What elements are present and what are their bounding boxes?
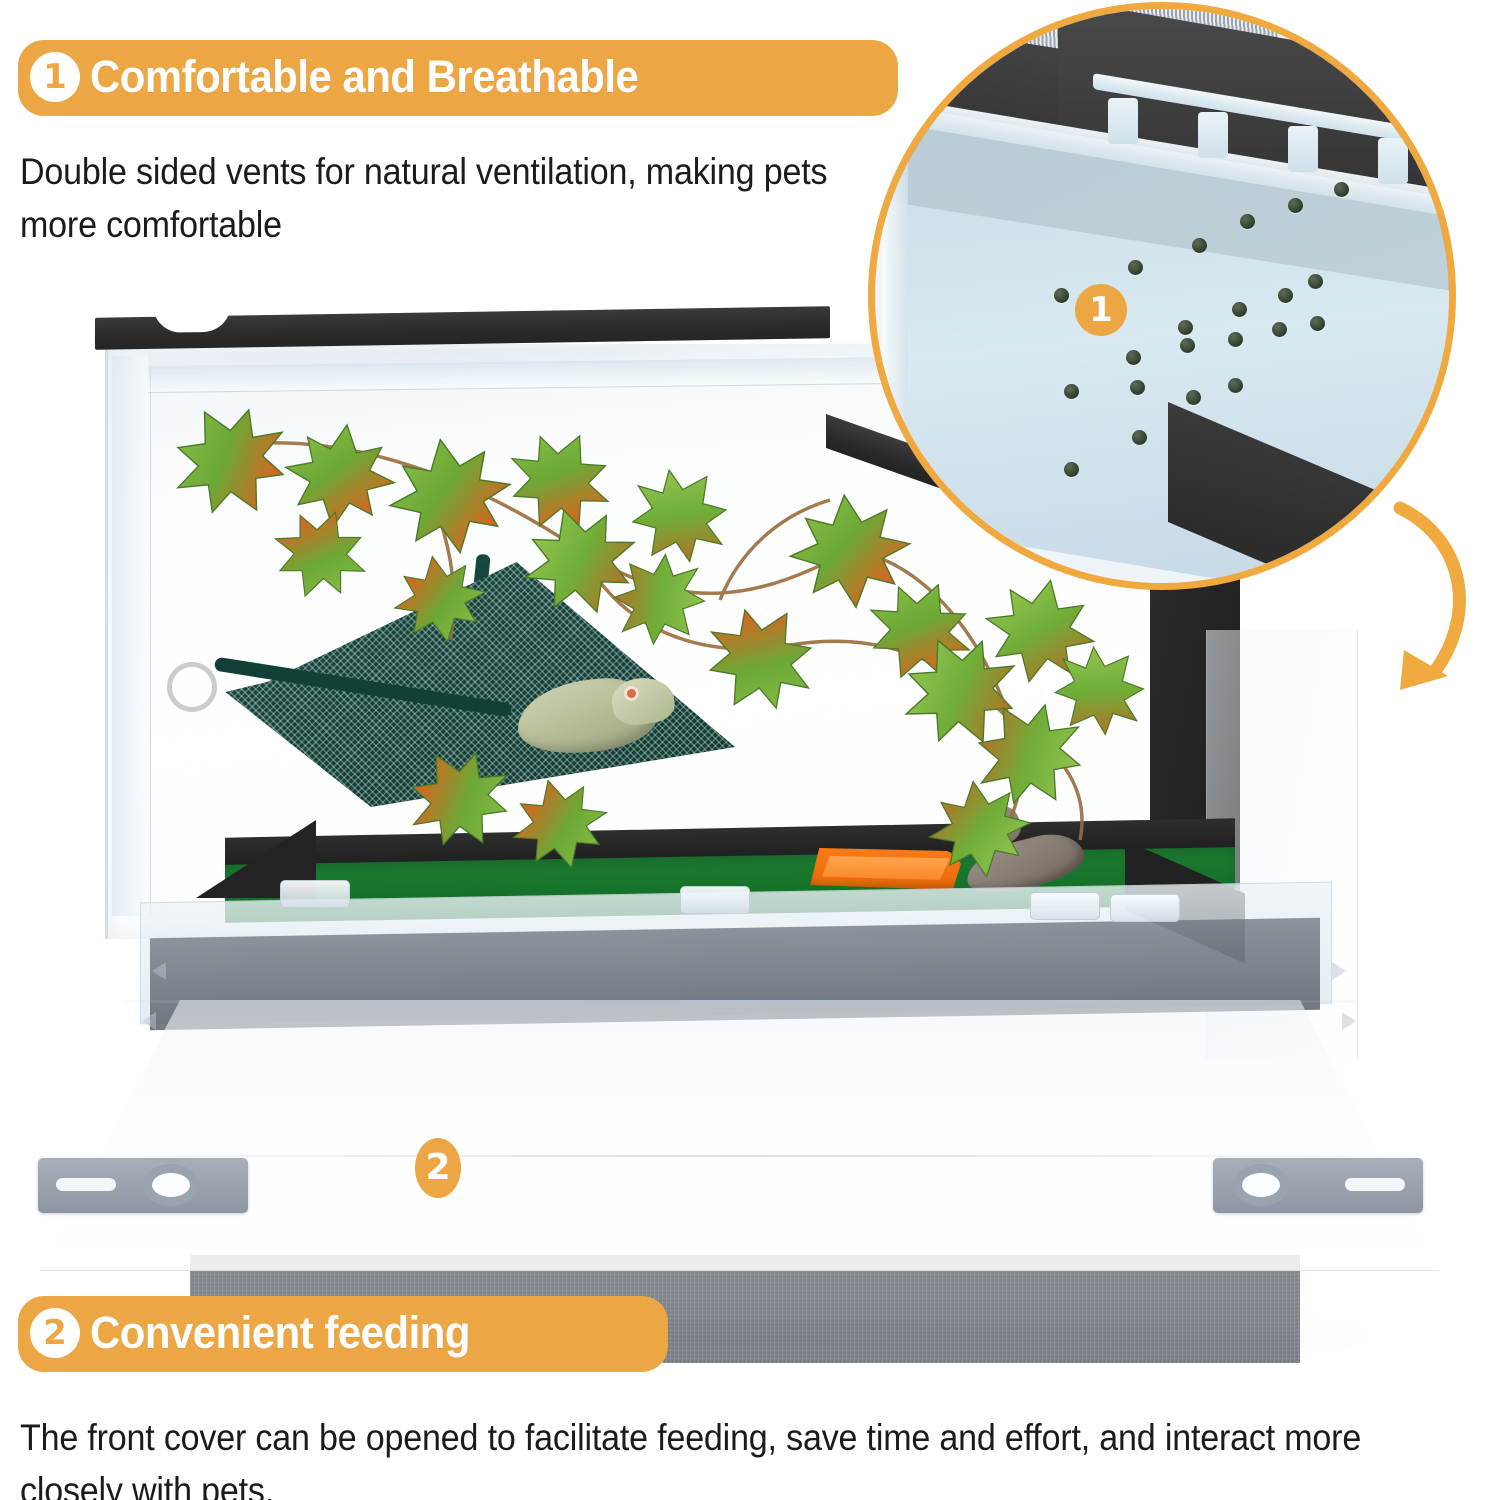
latch-ring bbox=[1233, 1164, 1289, 1206]
arrow-marker-right bbox=[1332, 962, 1346, 980]
opened-front-cover bbox=[40, 1000, 1440, 1271]
arrow-marker-left bbox=[152, 962, 166, 980]
front-cover-latch-right[interactable] bbox=[1213, 1158, 1423, 1213]
rail-clip bbox=[1198, 112, 1228, 158]
feeding-dish-bowl bbox=[822, 856, 950, 880]
orange-pointer-arrow bbox=[1370, 500, 1497, 740]
door-hinge bbox=[680, 886, 750, 914]
infographic-page: 1 Comfortable and Breathable Double side… bbox=[0, 0, 1497, 1500]
front-cover-latch-left[interactable] bbox=[38, 1158, 248, 1213]
front-cover-top-edge bbox=[125, 1000, 1355, 1003]
feature-1-number-badge: 1 bbox=[30, 52, 80, 102]
latch-ring bbox=[143, 1164, 199, 1206]
ventilation-hole bbox=[1278, 288, 1293, 303]
hammock-suction-ring bbox=[167, 662, 217, 712]
ventilation-hole bbox=[1310, 316, 1325, 331]
ventilation-hole bbox=[1232, 302, 1247, 317]
door-hinge bbox=[1110, 894, 1180, 922]
front-cover-fold-line bbox=[80, 1155, 1410, 1157]
callout-badge-2: 2 bbox=[415, 1138, 461, 1198]
bearded-dragon-eye bbox=[624, 686, 639, 701]
ventilation-hole bbox=[1126, 350, 1141, 365]
ventilation-hole bbox=[1334, 182, 1349, 197]
inset-photo-background bbox=[868, 2, 1456, 590]
ventilation-hole bbox=[1128, 260, 1143, 275]
feature-2-heading-pill: 2 Convenient feeding bbox=[18, 1296, 668, 1372]
ventilation-hole bbox=[1186, 390, 1201, 405]
feature-1-heading-pill: 1 Comfortable and Breathable bbox=[18, 40, 898, 116]
ventilation-hole bbox=[1228, 378, 1243, 393]
callout-badge-1: 1 bbox=[1075, 284, 1127, 336]
ventilation-hole bbox=[1064, 384, 1079, 399]
feature-2-description: The front cover can be opened to facilit… bbox=[20, 1412, 1400, 1500]
left-corner-post bbox=[112, 356, 151, 916]
feature-2-number-badge: 2 bbox=[30, 1308, 80, 1358]
latch-slot bbox=[1345, 1178, 1405, 1191]
ventilation-hole bbox=[1180, 338, 1195, 353]
arrow-marker-left bbox=[142, 1012, 156, 1030]
bearded-dragon-2-eye bbox=[986, 816, 996, 825]
inset-panel-left-frame bbox=[882, 162, 908, 542]
ventilation-hole bbox=[1228, 332, 1243, 347]
ventilation-closeup-inset bbox=[868, 2, 1456, 590]
ventilation-hole bbox=[1308, 274, 1323, 289]
ventilation-hole bbox=[1054, 288, 1069, 303]
ventilation-hole bbox=[1178, 320, 1193, 335]
feature-1-heading-text: Comfortable and Breathable bbox=[90, 51, 638, 103]
ventilation-hole bbox=[1064, 462, 1079, 477]
door-hinge bbox=[1030, 892, 1100, 920]
door-hinge bbox=[280, 880, 350, 908]
feature-2-heading-text: Convenient feeding bbox=[90, 1307, 470, 1359]
ventilation-hole bbox=[1272, 322, 1287, 337]
ventilation-hole bbox=[1132, 430, 1147, 445]
rail-clip bbox=[1378, 138, 1408, 184]
rail-clip bbox=[1108, 98, 1138, 144]
ventilation-hole bbox=[1240, 214, 1255, 229]
ventilation-hole bbox=[1130, 380, 1145, 395]
feature-1-description: Double sided vents for natural ventilati… bbox=[20, 146, 848, 251]
rail-clip bbox=[1288, 126, 1318, 172]
ventilation-hole bbox=[1288, 198, 1303, 213]
ventilation-hole bbox=[1192, 238, 1207, 253]
latch-slot bbox=[56, 1178, 116, 1191]
arrow-marker-right bbox=[1342, 1012, 1356, 1030]
